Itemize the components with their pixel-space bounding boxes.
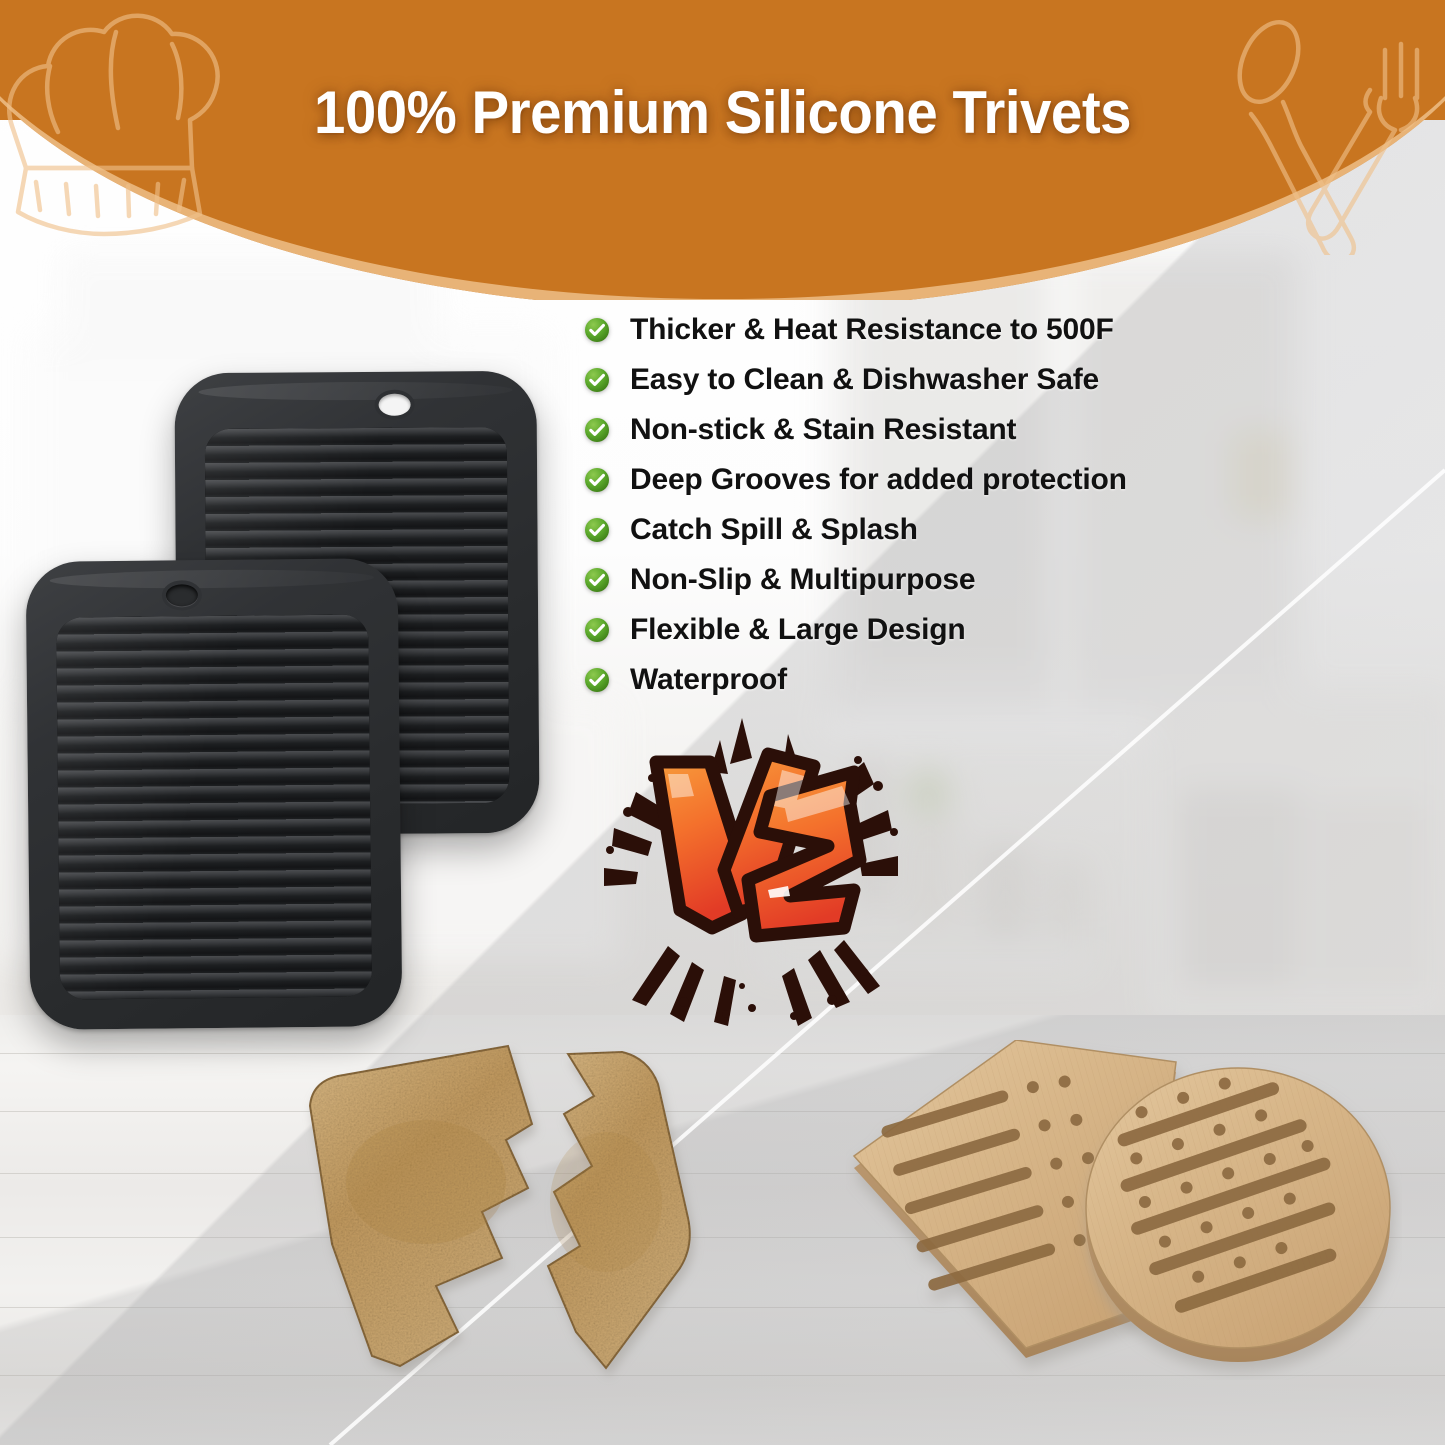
feature-list: Thicker & Heat Resistance to 500F Easy t… <box>584 305 1204 705</box>
list-item: Non-Slip & Multipurpose <box>584 555 1204 605</box>
feature-label: Non-stick & Stain Resistant <box>630 413 1016 447</box>
page-title: 100% Premium Silicone Trivets <box>43 78 1401 147</box>
list-item: Flexible & Large Design <box>584 605 1204 655</box>
broken-cork-trivet <box>276 1032 728 1404</box>
green-check-circle-icon <box>584 367 610 393</box>
header-banner: 100% Premium Silicone Trivets <box>0 0 1445 300</box>
feature-label: Non-Slip & Multipurpose <box>630 563 975 597</box>
product-infographic: 100% Premium Silicone Trivets Thicker & … <box>0 0 1445 1445</box>
feature-label: Thicker & Heat Resistance to 500F <box>630 313 1114 347</box>
bamboo-trivets <box>846 1040 1402 1380</box>
feature-label: Waterproof <box>630 663 787 697</box>
green-check-circle-icon <box>584 567 610 593</box>
hanging-hole <box>166 584 198 606</box>
silicone-trivet-front <box>26 558 403 1030</box>
green-check-circle-icon <box>584 317 610 343</box>
vs-badge <box>592 700 912 1030</box>
green-check-circle-icon <box>584 667 610 693</box>
list-item: Easy to Clean & Dishwasher Safe <box>584 355 1204 405</box>
green-check-circle-icon <box>584 517 610 543</box>
feature-label: Flexible & Large Design <box>630 613 966 647</box>
feature-label: Catch Spill & Splash <box>630 513 918 547</box>
green-check-circle-icon <box>584 417 610 443</box>
list-item: Catch Spill & Splash <box>584 505 1204 555</box>
hanging-hole <box>379 394 411 416</box>
list-item: Non-stick & Stain Resistant <box>584 405 1204 455</box>
green-check-circle-icon <box>584 467 610 493</box>
list-item: Deep Grooves for added protection <box>584 455 1204 505</box>
list-item: Thicker & Heat Resistance to 500F <box>584 305 1204 355</box>
green-check-circle-icon <box>584 617 610 643</box>
list-item: Waterproof <box>584 655 1204 705</box>
feature-label: Easy to Clean & Dishwasher Safe <box>630 363 1099 397</box>
feature-label: Deep Grooves for added protection <box>630 463 1127 497</box>
